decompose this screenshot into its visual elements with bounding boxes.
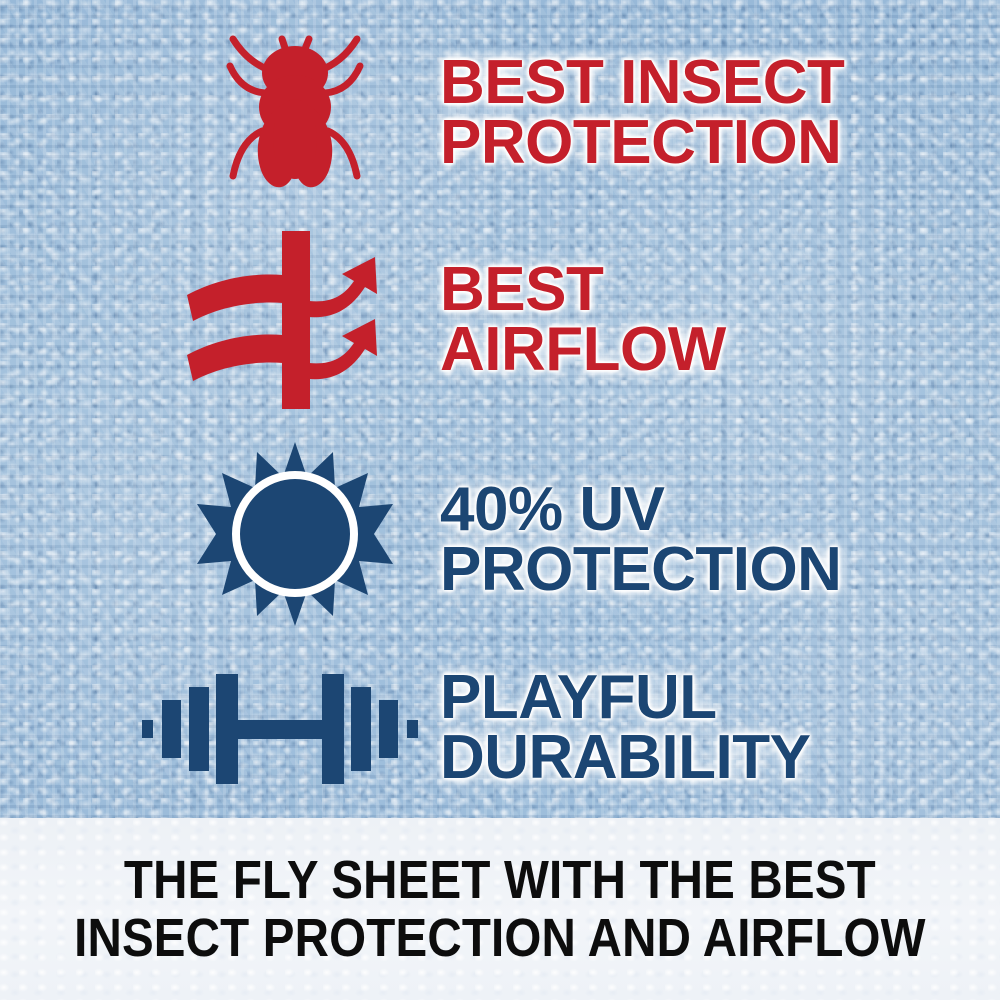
feature-row-airflow: BEST AIRFLOW xyxy=(150,222,1000,417)
feature-label-insect-protection: BEST INSECT PROTECTION xyxy=(440,53,844,172)
feature-row-durability: PLAYFUL DURABILITY xyxy=(120,645,1000,810)
bottom-banner: THE FLY SHEET WITH THE BEST INSECT PROTE… xyxy=(0,818,1000,1000)
fly-icon xyxy=(150,18,440,208)
feature-label-durability: PLAYFUL DURABILITY xyxy=(440,668,810,787)
feature-text-durability: PLAYFUL DURABILITY xyxy=(440,668,810,787)
airflow-arrows-icon xyxy=(150,222,440,417)
banner-headline: THE FLY SHEET WITH THE BEST INSECT PROTE… xyxy=(74,851,926,968)
feature-text-airflow: BEST AIRFLOW xyxy=(440,260,726,379)
feature-text-uv-protection: 40% UV PROTECTION xyxy=(440,480,841,599)
feature-row-uv-protection: 40% UV PROTECTION xyxy=(150,440,1000,640)
feature-row-insect-protection: BEST INSECT PROTECTION xyxy=(150,18,1000,208)
sun-icon xyxy=(150,440,440,640)
feature-text-insect-protection: BEST INSECT PROTECTION xyxy=(440,53,844,172)
dumbbell-icon xyxy=(120,645,440,810)
feature-label-uv-protection: 40% UV PROTECTION xyxy=(440,480,841,599)
feature-label-airflow: BEST AIRFLOW xyxy=(440,260,726,379)
product-feature-infographic: BEST INSECT PROTECTION xyxy=(0,0,1000,1000)
